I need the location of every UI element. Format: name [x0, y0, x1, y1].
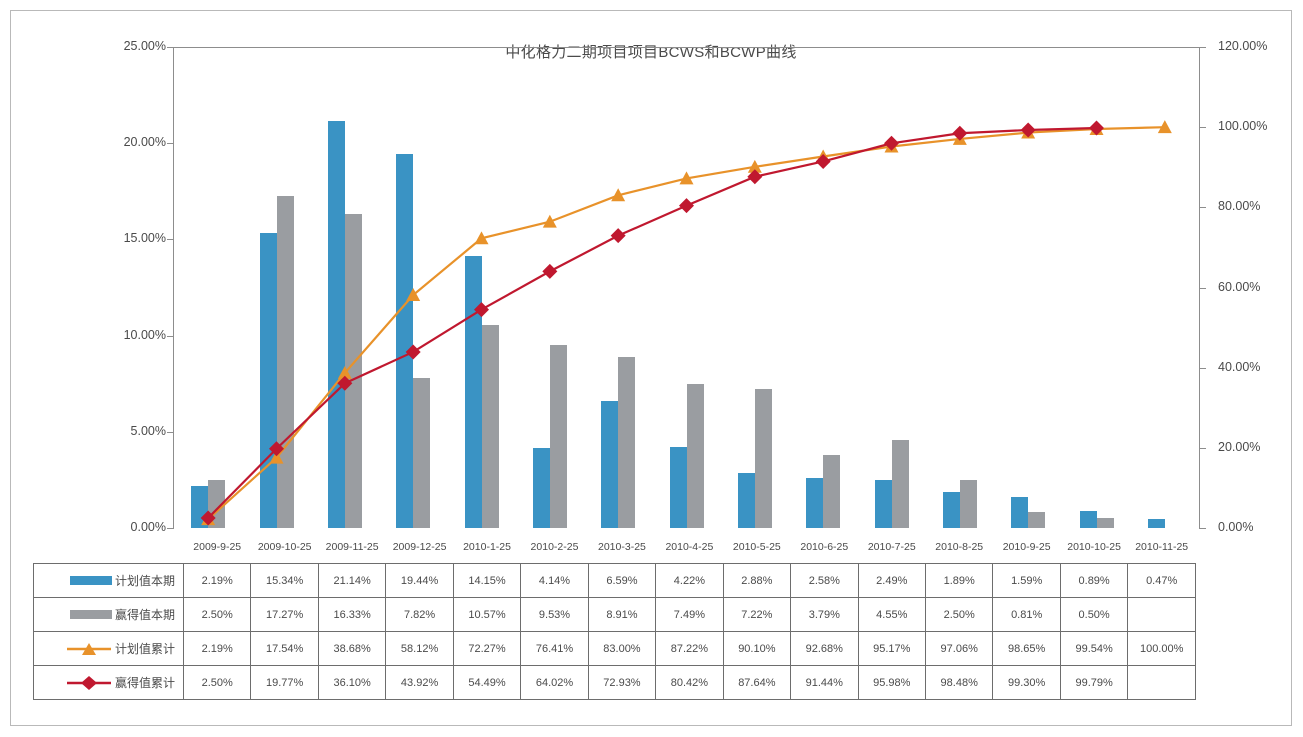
- table-cell: 15.34%: [251, 564, 318, 598]
- marker-diamond: [611, 228, 626, 243]
- table-corner-cell: [34, 530, 184, 564]
- table-cell: 17.27%: [251, 598, 318, 632]
- marker-triangle: [543, 215, 557, 228]
- axis-tick-label: 80.00%: [1218, 199, 1260, 213]
- line-plan-cumulative: [208, 127, 1165, 519]
- table-row: 赢得值本期2.50%17.27%16.33%7.82%10.57%9.53%8.…: [34, 598, 1196, 632]
- marker-diamond: [679, 198, 694, 213]
- table-cell: 64.02%: [521, 666, 588, 700]
- legend-swatch-line-diamond: [66, 675, 112, 691]
- table-cell: 80.42%: [656, 666, 723, 700]
- legend-label: 计划值本期: [115, 574, 175, 588]
- table-cell: 4.22%: [656, 564, 723, 598]
- table-cell: 1.89%: [925, 564, 992, 598]
- legend-swatch-bar: [70, 576, 112, 585]
- legend-cell: 赢得值累计: [34, 666, 184, 700]
- axis-tick-label: 40.00%: [1218, 360, 1260, 374]
- legend-cell: 计划值本期: [34, 564, 184, 598]
- table-cell: 7.82%: [386, 598, 453, 632]
- table-cell: 17.54%: [251, 632, 318, 666]
- table-cell: 2.50%: [184, 598, 251, 632]
- series-container: [174, 47, 1199, 528]
- table-header-cell: 2010-2-25: [521, 530, 588, 564]
- table-cell: 4.55%: [858, 598, 925, 632]
- table-header-cell: 2010-3-25: [588, 530, 655, 564]
- table-header-cell: 2010-7-25: [858, 530, 925, 564]
- table-header-cell: 2009-11-25: [318, 530, 385, 564]
- table-cell: 87.22%: [656, 632, 723, 666]
- table-cell: 54.49%: [453, 666, 520, 700]
- axis-tick: [1200, 47, 1206, 48]
- table-cell: 3.79%: [791, 598, 858, 632]
- table-cell: 10.57%: [453, 598, 520, 632]
- table-header-cell: 2009-9-25: [184, 530, 251, 564]
- table-cell: 43.92%: [386, 666, 453, 700]
- table-header-cell: 2010-9-25: [993, 530, 1060, 564]
- chart-frame: 中化格力二期项目项目BCWS和BCWP曲线 0.00%5.00%10.00%15…: [10, 10, 1292, 726]
- table-cell: 6.59%: [588, 564, 655, 598]
- axis-tick: [167, 528, 173, 529]
- table-cell: 16.33%: [318, 598, 385, 632]
- axis-tick-label: 15.00%: [124, 231, 166, 245]
- axis-tick: [1200, 288, 1206, 289]
- marker-diamond: [474, 302, 489, 317]
- table-cell: 98.65%: [993, 632, 1060, 666]
- legend-label: 赢得值本期: [115, 608, 175, 622]
- axis-tick-label: 20.00%: [1218, 440, 1260, 454]
- axis-tick-label: 25.00%: [124, 39, 166, 53]
- data-table: 2009-9-252009-10-252009-11-252009-12-252…: [33, 530, 1196, 700]
- marker-diamond: [884, 136, 899, 151]
- axis-tick: [167, 143, 173, 144]
- axis-tick-label: 20.00%: [124, 135, 166, 149]
- axis-tick-label: 100.00%: [1218, 119, 1267, 133]
- table-cell: 14.15%: [453, 564, 520, 598]
- table-cell: 2.19%: [184, 564, 251, 598]
- legend-cell: 计划值累计: [34, 632, 184, 666]
- table-cell: 0.50%: [1060, 598, 1127, 632]
- table-cell: 98.48%: [925, 666, 992, 700]
- table-cell: 72.93%: [588, 666, 655, 700]
- table-cell: 19.44%: [386, 564, 453, 598]
- axis-tick: [167, 336, 173, 337]
- table-cell: 72.27%: [453, 632, 520, 666]
- table-cell: 90.10%: [723, 632, 790, 666]
- table-cell: 36.10%: [318, 666, 385, 700]
- table-cell: 38.68%: [318, 632, 385, 666]
- table-cell: 0.47%: [1128, 564, 1196, 598]
- table-cell: 2.88%: [723, 564, 790, 598]
- axis-tick: [167, 47, 173, 48]
- marker-diamond: [406, 344, 421, 359]
- table-cell: 95.98%: [858, 666, 925, 700]
- axis-tick: [1200, 207, 1206, 208]
- table-cell: [1128, 598, 1196, 632]
- table-cell: 0.89%: [1060, 564, 1127, 598]
- table-cell: 95.17%: [858, 632, 925, 666]
- table-cell: 2.58%: [791, 564, 858, 598]
- table-header-cell: 2010-5-25: [723, 530, 790, 564]
- axis-tick: [1200, 448, 1206, 449]
- table-cell: 1.59%: [993, 564, 1060, 598]
- marker-diamond: [1021, 122, 1036, 137]
- table-cell: 2.19%: [184, 632, 251, 666]
- table-cell: 2.50%: [925, 598, 992, 632]
- axis-tick: [167, 432, 173, 433]
- table-header-cell: 2009-10-25: [251, 530, 318, 564]
- axis-tick: [1200, 368, 1206, 369]
- table-header-row: 2009-9-252009-10-252009-11-252009-12-252…: [34, 530, 1196, 564]
- marker-diamond: [542, 264, 557, 279]
- table-header-cell: 2010-10-25: [1060, 530, 1127, 564]
- table-cell: 99.54%: [1060, 632, 1127, 666]
- axis-tick-label: 0.00%: [1218, 520, 1253, 534]
- legend-swatch-line-triangle: [66, 641, 112, 657]
- lines-layer: [174, 47, 1199, 528]
- table-cell: 92.68%: [791, 632, 858, 666]
- table-header-cell: 2010-11-25: [1128, 530, 1196, 564]
- axis-tick: [1200, 528, 1206, 529]
- table-header-cell: 2009-12-25: [386, 530, 453, 564]
- table-cell: 58.12%: [386, 632, 453, 666]
- table-row: 计划值本期2.19%15.34%21.14%19.44%14.15%4.14%6…: [34, 564, 1196, 598]
- table-cell: 0.81%: [993, 598, 1060, 632]
- table-row: 计划值累计2.19%17.54%38.68%58.12%72.27%76.41%…: [34, 632, 1196, 666]
- axis-tick-label: 60.00%: [1218, 280, 1260, 294]
- table-cell: 7.49%: [656, 598, 723, 632]
- table-header-cell: 2010-1-25: [453, 530, 520, 564]
- legend-label: 计划值累计: [115, 642, 175, 656]
- table-cell: 76.41%: [521, 632, 588, 666]
- legend-cell: 赢得值本期: [34, 598, 184, 632]
- table-cell: 8.91%: [588, 598, 655, 632]
- plot-canvas: 0.00%5.00%10.00%15.00%20.00%25.00% 0.00%…: [173, 47, 1200, 529]
- table-row: 赢得值累计2.50%19.77%36.10%43.92%54.49%64.02%…: [34, 666, 1196, 700]
- table-cell: 2.50%: [184, 666, 251, 700]
- table-cell: 19.77%: [251, 666, 318, 700]
- table-cell: 100.00%: [1128, 632, 1196, 666]
- table-cell: 83.00%: [588, 632, 655, 666]
- table-cell: [1128, 666, 1196, 700]
- legend-swatch-bar: [70, 610, 112, 619]
- axis-tick: [1200, 127, 1206, 128]
- axis-tick: [167, 239, 173, 240]
- axis-tick-label: 5.00%: [131, 424, 166, 438]
- table-cell: 7.22%: [723, 598, 790, 632]
- table-cell: 2.49%: [858, 564, 925, 598]
- table-header-cell: 2010-6-25: [791, 530, 858, 564]
- table-header-cell: 2010-8-25: [925, 530, 992, 564]
- axis-tick-label: 120.00%: [1218, 39, 1267, 53]
- table-header-cell: 2010-4-25: [656, 530, 723, 564]
- table-cell: 9.53%: [521, 598, 588, 632]
- table-cell: 99.79%: [1060, 666, 1127, 700]
- plot-area: 中化格力二期项目项目BCWS和BCWP曲线 0.00%5.00%10.00%15…: [11, 11, 1291, 531]
- table-cell: 99.30%: [993, 666, 1060, 700]
- table-cell: 87.64%: [723, 666, 790, 700]
- table-cell: 91.44%: [791, 666, 858, 700]
- table-cell: 4.14%: [521, 564, 588, 598]
- table-cell: 21.14%: [318, 564, 385, 598]
- axis-tick-label: 10.00%: [124, 328, 166, 342]
- legend-label: 赢得值累计: [115, 676, 175, 690]
- table-cell: 97.06%: [925, 632, 992, 666]
